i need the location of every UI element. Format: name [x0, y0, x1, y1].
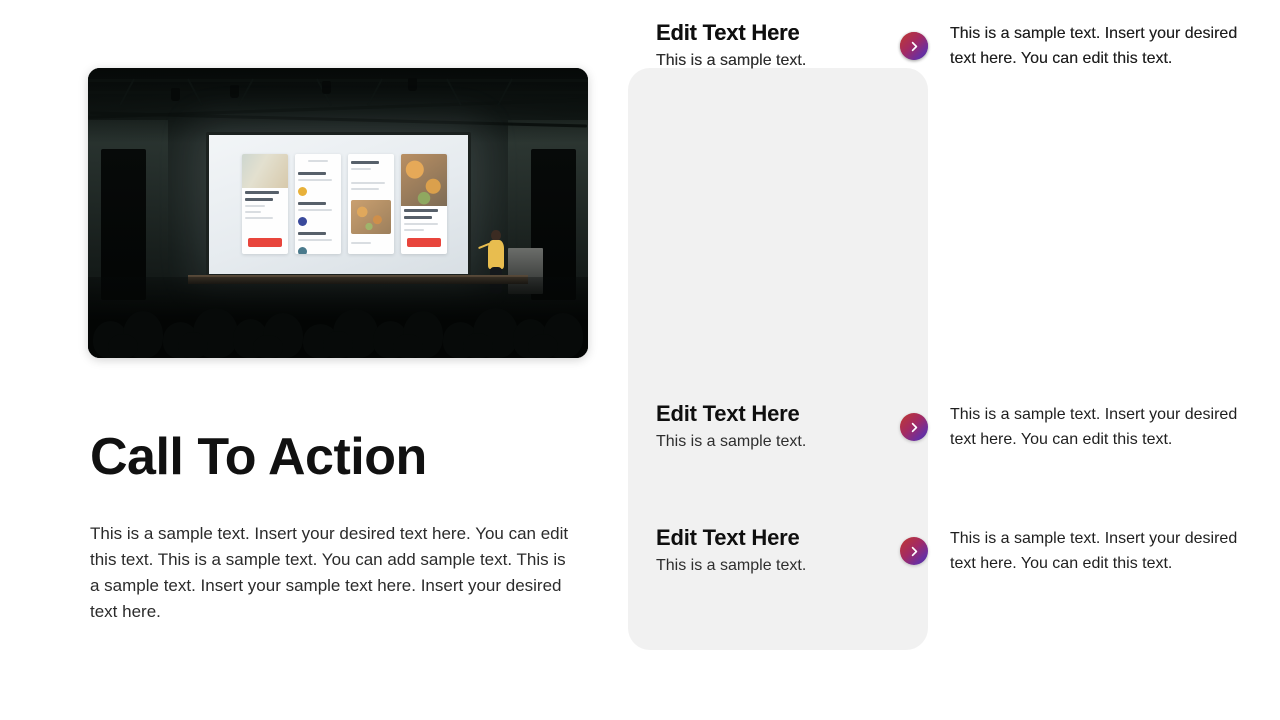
venue-background: [88, 68, 588, 358]
feature-title: Edit Text Here: [656, 524, 892, 552]
mockup-card: [242, 154, 288, 254]
page-title: Call To Action: [90, 430, 427, 485]
feature-row[interactable]: Edit Text Here This is a sample text. Th…: [628, 381, 1280, 473]
slide-canvas: Call To Action This is a sample text. In…: [0, 0, 1280, 720]
feature-title: Edit Text Here: [656, 400, 892, 428]
projection-screen: [206, 132, 471, 277]
feature-description: This is a sample text. Insert your desir…: [950, 526, 1240, 576]
feature-row[interactable]: Edit Text Here This is a sample text. Th…: [628, 505, 1280, 597]
stage-light-icon: [230, 85, 239, 98]
feature-description: This is a sample text. Insert your desir…: [950, 402, 1240, 452]
audience-silhouettes: [88, 277, 588, 358]
feature-row[interactable]: Edit Text Here This is a sample text. Th…: [628, 0, 1280, 92]
hero-presentation-photo[interactable]: [88, 68, 588, 358]
stage-light-icon: [408, 78, 417, 91]
mockup-card: [295, 154, 341, 254]
mockup-card: [401, 154, 447, 254]
stage-light-icon: [322, 81, 331, 94]
feature-text-block: Edit Text Here This is a sample text.: [628, 19, 900, 74]
mockup-card: [348, 154, 394, 254]
lead-paragraph: This is a sample text. Insert your desir…: [90, 521, 576, 625]
chevron-right-icon[interactable]: [900, 413, 928, 441]
feature-text-block: Edit Text Here This is a sample text.: [628, 524, 900, 579]
feature-subtitle: This is a sample text.: [656, 554, 892, 578]
stage-light-icon: [171, 88, 180, 101]
app-mockups: [242, 154, 447, 254]
feature-subtitle: This is a sample text.: [656, 49, 892, 73]
feature-text-block: Edit Text Here This is a sample text.: [628, 400, 900, 455]
feature-subtitle: This is a sample text.: [656, 430, 892, 454]
chevron-right-icon[interactable]: [900, 32, 928, 60]
feature-description: This is a sample text. Insert your desir…: [950, 21, 1240, 71]
feature-title: Edit Text Here: [656, 19, 892, 47]
chevron-right-icon[interactable]: [900, 537, 928, 565]
